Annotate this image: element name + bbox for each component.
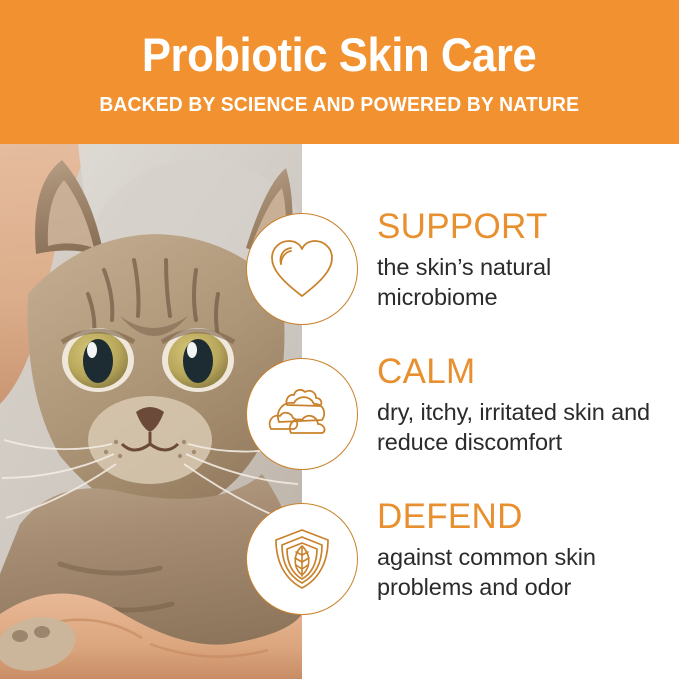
- product-feature-poster: Probiotic Skin Care BACKED BY SCIENCE AN…: [0, 0, 679, 679]
- header-banner: Probiotic Skin Care BACKED BY SCIENCE AN…: [0, 0, 679, 144]
- feature-calm: CALM dry, itchy, irritated skin and redu…: [0, 358, 679, 470]
- feature-defend: DEFEND against common skin problems and …: [0, 503, 679, 615]
- cloud-icon: [265, 377, 339, 451]
- feature-support-description: the skin’s natural microbiome: [377, 252, 677, 312]
- feature-defend-text: DEFEND against common skin problems and …: [377, 499, 677, 602]
- feature-calm-description: dry, itchy, irritated skin and reduce di…: [377, 397, 677, 457]
- feature-support-text: SUPPORT the skin’s natural microbiome: [377, 209, 677, 312]
- feature-support-title: SUPPORT: [377, 209, 677, 246]
- feature-defend-description: against common skin problems and odor: [377, 542, 677, 602]
- feature-calm-title: CALM: [377, 354, 677, 391]
- header-subtitle: BACKED BY SCIENCE AND POWERED BY NATURE: [100, 93, 580, 117]
- heart-icon: [265, 232, 339, 306]
- feature-support: SUPPORT the skin’s natural microbiome: [0, 213, 679, 325]
- shield-leaf-icon: [265, 522, 339, 596]
- feature-defend-title: DEFEND: [377, 499, 677, 536]
- page-title: Probiotic Skin Care: [142, 31, 536, 79]
- cloud-icon-badge: [246, 358, 358, 470]
- shield-leaf-icon-badge: [246, 503, 358, 615]
- heart-icon-badge: [246, 213, 358, 325]
- feature-calm-text: CALM dry, itchy, irritated skin and redu…: [377, 354, 677, 457]
